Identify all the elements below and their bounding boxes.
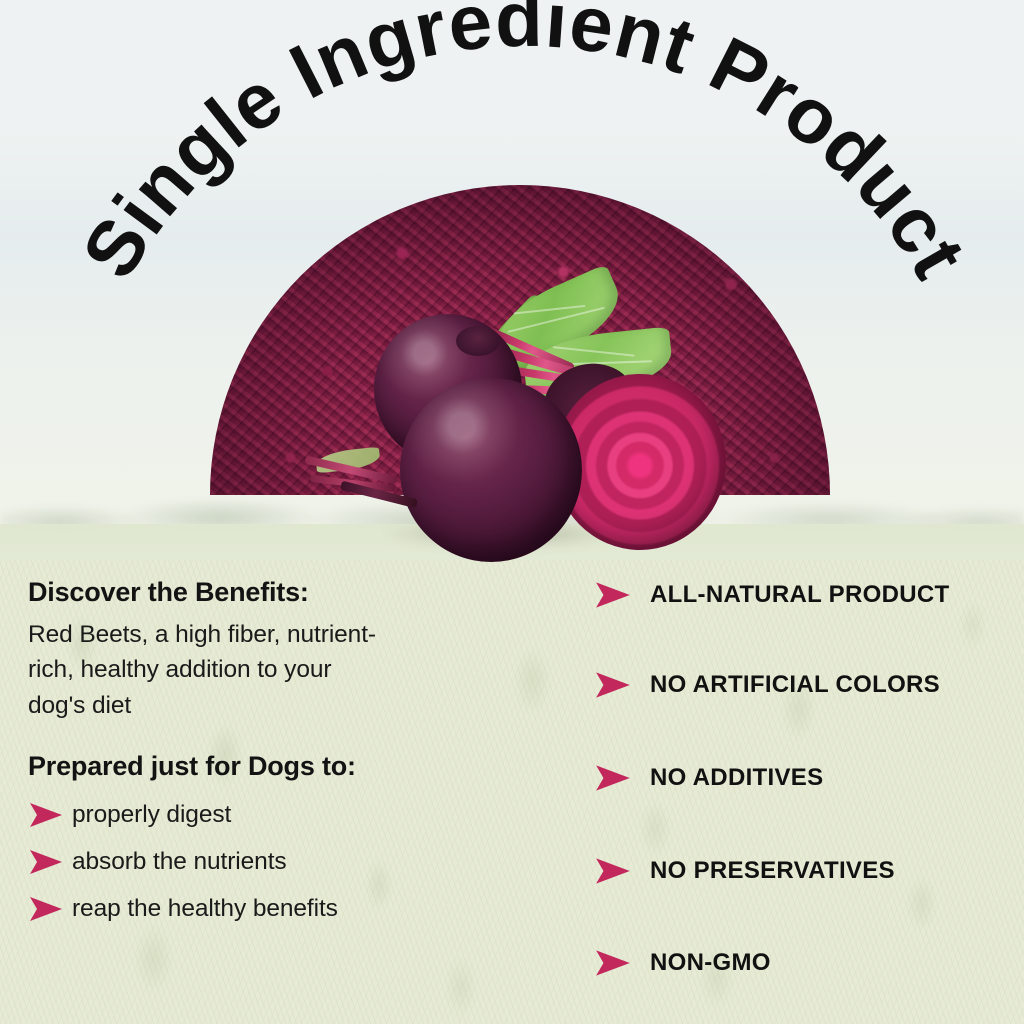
benefits-column: Discover the Benefits: Red Beets, a high… (28, 578, 548, 933)
list-item: reap the healthy benefits (28, 886, 548, 933)
arrow-right-bullet-icon (594, 670, 650, 700)
arrow-right-bullet-icon (28, 801, 72, 829)
list-item: NO ARTIFICIAL COLORS (594, 670, 1014, 700)
benefits-body-line: rich, healthy addition to your (28, 652, 548, 688)
whole-beet-front (400, 378, 582, 562)
benefits-body-line: dog's diet (28, 688, 548, 724)
benefits-heading: Discover the Benefits: (28, 578, 548, 608)
prepared-list: properly digest absorb the nutrients rea… (28, 792, 548, 933)
list-item: properly digest (28, 792, 548, 839)
features-list: ALL-NATURAL PRODUCT NO ARTIFICIAL COLORS… (594, 560, 1014, 1000)
list-item: NO ADDITIVES (594, 763, 1014, 793)
beet-crown (456, 326, 500, 356)
arrow-right-bullet-icon (594, 856, 650, 886)
list-item: absorb the nutrients (28, 839, 548, 886)
list-item-label: properly digest (72, 801, 231, 829)
feature-label: NO PRESERVATIVES (650, 857, 895, 885)
fresh-beets-image (296, 286, 716, 568)
product-infographic: Single Ingredient Product Discover th (0, 0, 1024, 1024)
feature-label: NO ADDITIVES (650, 764, 823, 792)
list-item-label: absorb the nutrients (72, 848, 287, 876)
arrow-right-bullet-icon (594, 948, 650, 978)
list-item: NON-GMO (594, 948, 1014, 978)
arrow-right-bullet-icon (594, 763, 650, 793)
benefits-body: Red Beets, a high fiber, nutrient- rich,… (28, 617, 548, 724)
features-column: ALL-NATURAL PRODUCT NO ARTIFICIAL COLORS… (594, 560, 1014, 1000)
feature-label: NON-GMO (650, 949, 771, 977)
list-item: ALL-NATURAL PRODUCT (594, 580, 1014, 610)
arrow-right-bullet-icon (594, 580, 650, 610)
prepared-heading: Prepared just for Dogs to: (28, 752, 548, 782)
list-item: NO PRESERVATIVES (594, 856, 1014, 886)
arrow-right-bullet-icon (28, 895, 72, 923)
arrow-right-bullet-icon (28, 848, 72, 876)
feature-label: NO ARTIFICIAL COLORS (650, 671, 940, 699)
list-item-label: reap the healthy benefits (72, 895, 338, 923)
benefits-body-line: Red Beets, a high fiber, nutrient- (28, 617, 548, 653)
feature-label: ALL-NATURAL PRODUCT (650, 581, 949, 609)
